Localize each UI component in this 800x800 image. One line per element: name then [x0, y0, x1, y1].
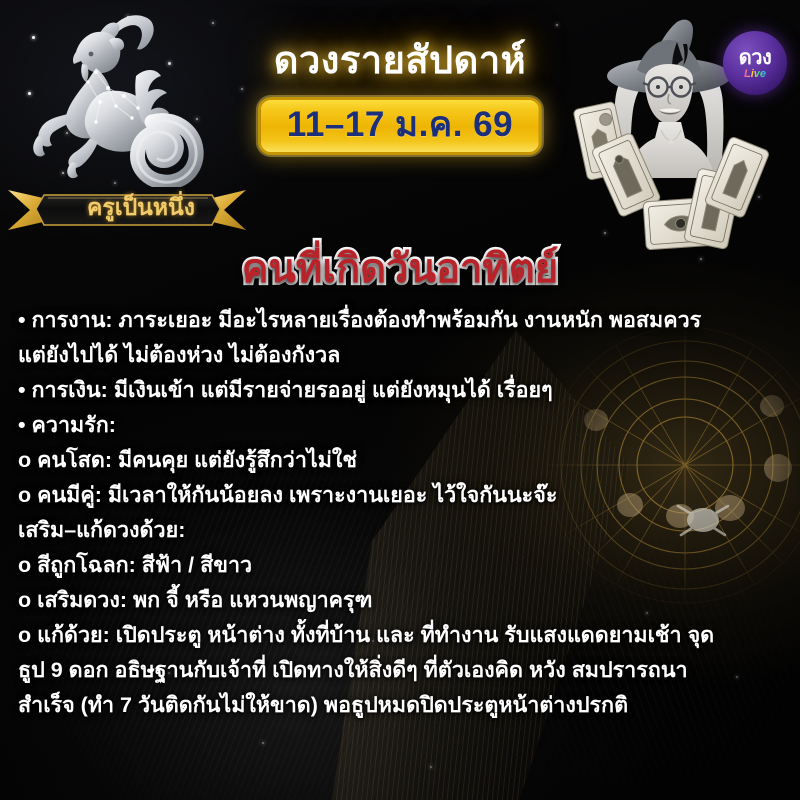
date-range-label: 11–17 ม.ค. 69 [287, 105, 513, 144]
content-line: สำเร็จ (ทำ 7 วันติดกันไม่ให้ขาด) พอธูปหม… [18, 688, 784, 723]
day-heading: คนที่เกิดวันอาทิตย์ [0, 246, 800, 292]
brand-logo[interactable]: ดวง Live [723, 31, 787, 95]
brand-logo-sub-text: Live [744, 69, 766, 80]
content-line: • การเงิน: มีเงินเข้า แต่มีรายจ่ายรออยู่… [18, 373, 784, 408]
content-line: o แก้ด้วย: เปิดประตู หน้าต่าง ทั้งที่บ้า… [18, 618, 784, 653]
content-line: o สีถูกโฉลก: สีฟ้า / สีขาว [18, 548, 784, 583]
content-line: o เสริมดวง: พก จี้ หรือ แหวนพญาครุฑ [18, 583, 784, 618]
horoscope-content: • การงาน: ภาระเยอะ มีอะไรหลายเรื่องต้องท… [18, 303, 784, 723]
horoscope-poster: ดวงรายสัปดาห์ 11–17 ม.ค. 69 ดวง Live [0, 0, 800, 800]
content-line: ธูป 9 ดอก อธิษฐานกับเจ้าที่ เปิดทางให้สิ… [18, 653, 784, 688]
content-line: • การงาน: ภาระเยอะ มีอะไรหลายเรื่องต้องท… [18, 303, 784, 338]
content-line: o คนมีคู่: มีเวลาให้กันน้อยลง เพราะงานเย… [18, 478, 784, 513]
content-line: o คนโสด: มีคนคุย แต่ยังรู้สึกว่าไม่ใช่ [18, 443, 784, 478]
content-line: แต่ยังไปได้ ไม่ต้องห่วง ไม่ต้องกังวล [18, 338, 784, 373]
date-range-badge: 11–17 ม.ค. 69 [258, 97, 542, 155]
content-line: • ความรัก: [18, 408, 784, 443]
astrologer-name-label: ครูเป็นหนึ่ง [8, 186, 246, 232]
page-title: ดวงรายสัปดาห์ [0, 42, 800, 82]
astrologer-name-ribbon: ครูเป็นหนึ่ง [8, 186, 246, 232]
capricorn-zodiac-icon [4, 2, 219, 187]
content-line: เสริม–แก้ดวงด้วย: [18, 513, 784, 548]
brand-logo-main-text: ดวง [739, 48, 771, 68]
